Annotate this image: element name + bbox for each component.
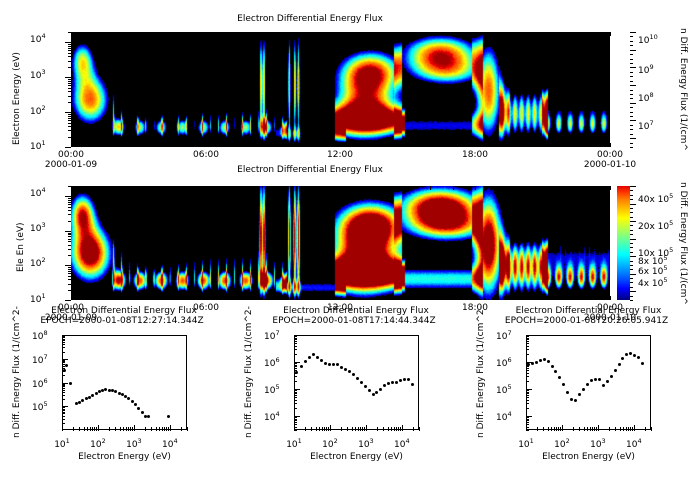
xtick-minor <box>145 427 146 431</box>
xtick-minor <box>632 427 633 431</box>
panel1-ytick <box>68 81 71 82</box>
panel2-xtick-top <box>385 186 386 190</box>
panel2-cbtick-0-mant: 40x 10 <box>638 195 669 205</box>
panel1-xtick <box>430 143 431 147</box>
panel2-xtick-top <box>296 186 297 190</box>
panel1-ytick <box>68 44 71 45</box>
ytick-mant: 10 <box>496 332 507 342</box>
panel1-xtick <box>453 143 454 147</box>
panel1-xtick-top <box>565 32 566 36</box>
ytick-exp: 5 <box>275 383 279 391</box>
panel2-xtick-top <box>565 186 566 190</box>
panel1-ytick <box>68 32 71 33</box>
xtick-exp: 3 <box>602 437 606 445</box>
panel2-ylabel: Ele En (eV) <box>16 222 26 272</box>
xtick-mant: 10 <box>518 440 529 450</box>
panel1-cbtick <box>630 143 633 144</box>
panel2-xtick <box>183 296 184 300</box>
ytick-minor <box>62 407 65 408</box>
xtick-minor <box>341 427 342 431</box>
data-point <box>352 373 355 376</box>
panel1-xtick-top <box>498 32 499 36</box>
xtick-minor <box>556 427 557 431</box>
panel1-xtick <box>475 143 476 147</box>
panel2-ytick <box>65 300 71 301</box>
panel1-xtick <box>610 143 611 147</box>
panel2-cbtick <box>630 234 633 235</box>
xtick-minor <box>159 427 160 431</box>
panel2-xtick-top <box>363 186 364 190</box>
panel1-xtick <box>408 143 409 147</box>
xtick-exp: 2 <box>102 437 106 445</box>
panel2-cbtick-0-exp: 5 <box>669 192 673 200</box>
xtick-minor <box>584 427 585 431</box>
xtick-minor <box>319 427 320 431</box>
panel1-xtick-top <box>93 32 94 36</box>
xtick-minor <box>543 427 544 431</box>
ytick-minor <box>62 385 65 386</box>
panel2-cbtick-5-exp: 5 <box>663 276 667 284</box>
ytick-exp: 6 <box>507 356 511 364</box>
panel2-cbtick <box>630 300 633 301</box>
panel1-cbtick-3: 107 <box>638 119 654 132</box>
panel1-cbtick <box>630 107 633 108</box>
xtick-mark <box>634 425 635 431</box>
ytick-mant: 10 <box>32 403 43 413</box>
ytick-minor <box>526 368 529 369</box>
panel1-cbtick-1-exp: 9 <box>649 63 653 71</box>
spectrum-panel-0: Electron Differential Energy FluxEPOCH=2… <box>0 300 232 492</box>
panel2-colorbar-label: n Diff. Energy Flux (1/(cm^ <box>678 182 688 305</box>
spectrum-xtick: 101 <box>54 437 70 450</box>
spectrum-xtick: 103 <box>358 437 374 450</box>
panel2-cbtick <box>630 221 636 222</box>
spectrum-ytick: 104 <box>496 410 512 423</box>
xtick-mark <box>134 425 135 431</box>
ytick-minor <box>294 354 297 355</box>
xtick-mark <box>98 425 99 431</box>
panel1-cbtick-2-mant: 10 <box>638 94 649 104</box>
ytick-minor <box>526 417 529 418</box>
panel1-cbtick <box>630 147 633 148</box>
ytick-minor <box>62 360 65 361</box>
panel2-xtick-top <box>183 186 184 190</box>
ytick-exp: 5 <box>507 383 511 391</box>
xtick-minor <box>326 427 327 431</box>
panel1-cbtick <box>630 72 633 73</box>
panel1-cbtick <box>630 54 633 55</box>
ytick-minor <box>294 408 297 409</box>
panel2-xtick-top <box>341 186 342 190</box>
panel2-ytick <box>68 210 71 211</box>
panel1-cbtick <box>630 98 633 99</box>
panel1-cbtick <box>630 94 633 95</box>
panel2-ytick <box>68 204 71 205</box>
xtick-minor <box>615 427 616 431</box>
panel2-ytick <box>68 279 71 280</box>
xtick-minor <box>358 427 359 431</box>
panel1-cbtick <box>630 125 633 126</box>
ytick-minor <box>62 410 65 411</box>
data-point <box>395 381 398 384</box>
panel2-xtick <box>71 296 72 300</box>
panel1-cbtick <box>630 81 633 82</box>
panel2-cbtick-4-exp: 5 <box>663 264 667 272</box>
panel1-xtick <box>93 143 94 147</box>
panel1-ytick-1: 103 <box>30 68 46 81</box>
panel2-ytick <box>68 276 71 277</box>
panel2-xtick-top <box>408 186 409 190</box>
panel2-xtick <box>341 296 342 300</box>
xtick-minor <box>94 427 95 431</box>
data-point <box>594 378 597 381</box>
panel2-cbtick <box>630 212 633 213</box>
ytick-minor <box>294 365 297 366</box>
panel2-ytick <box>68 214 71 215</box>
panel1-xtick-top <box>251 32 252 36</box>
panel2-xtick-top <box>475 186 476 190</box>
panel2-cbtick <box>630 256 636 257</box>
xtick-minor <box>73 427 74 431</box>
panel1-ytick-0: 104 <box>30 32 46 45</box>
panel1-ytick <box>68 88 71 89</box>
xtick-mant: 10 <box>394 440 405 450</box>
panel1-xtick-4: 00:00 <box>597 150 623 160</box>
ytick-minor <box>294 346 297 347</box>
panel1-cbtick <box>630 76 633 77</box>
ytick-exp: 7 <box>507 329 511 337</box>
panel2-xtick <box>116 296 117 300</box>
panel2-cbtick <box>630 199 633 200</box>
panel2-xtick-top <box>116 186 117 190</box>
spectrum-panel-1: Electron Differential Energy FluxEPOCH=2… <box>232 300 464 492</box>
panel2-cbtick <box>630 296 633 297</box>
panel1-ytick-3: 101 <box>30 139 46 152</box>
panel1-title: Electron Differential Energy Flux <box>0 14 620 24</box>
xtick-mark <box>366 425 367 431</box>
xtick-minor <box>355 427 356 431</box>
panel1-xtick-top <box>453 32 454 36</box>
panel2-xtick <box>363 296 364 300</box>
panel2-xtick-top <box>498 186 499 190</box>
panel1-xtick <box>498 143 499 147</box>
ytick-mant: 10 <box>496 386 507 396</box>
xtick-minor <box>79 427 80 431</box>
xtick-exp: 4 <box>406 437 410 445</box>
xtick-minor <box>388 427 389 431</box>
ytick-minor <box>526 346 529 347</box>
panel2-xtick <box>161 296 162 300</box>
spectrum-panel-2: Electron Differential Energy FluxEPOCH=2… <box>464 300 697 492</box>
panel2-xtick <box>430 296 431 300</box>
ytick-minor <box>526 339 529 340</box>
panel1-xtick-top <box>138 32 139 36</box>
xtick-minor <box>594 427 595 431</box>
data-point <box>360 381 363 384</box>
xtick-mant: 10 <box>126 440 137 450</box>
panel2-ytick <box>68 198 71 199</box>
panel1-ytick <box>68 137 71 138</box>
xtick-mant: 10 <box>626 440 637 450</box>
panel1-cbtick <box>630 134 633 135</box>
data-point <box>95 392 98 395</box>
panel2-xtick <box>408 296 409 300</box>
ytick-minor <box>62 352 65 353</box>
data-point <box>308 356 311 359</box>
panel2-xtick-top <box>520 186 521 190</box>
panel1-xtick-top <box>273 32 274 36</box>
panel1-ytick-1-mant: 10 <box>30 71 41 81</box>
panel2-xtick-top <box>161 186 162 190</box>
xtick-minor <box>587 427 588 431</box>
panel1-xtick <box>71 143 72 147</box>
panel1-xtick <box>138 143 139 147</box>
xtick-minor <box>305 427 306 431</box>
panel1-colorbar-label: n Diff. Energy Flux (1/(cm^ <box>678 28 688 151</box>
ytick-minor <box>526 390 529 391</box>
xtick-minor <box>364 427 365 431</box>
panel2-ytick <box>68 200 71 201</box>
panel2-title: Electron Differential Energy Flux <box>0 165 620 175</box>
panel2-ytick-1-mant: 10 <box>30 224 41 234</box>
panel1-cbtick <box>630 112 633 113</box>
xtick-exp: 1 <box>66 437 70 445</box>
xtick-exp: 2 <box>566 437 570 445</box>
panel1-ytick <box>68 46 71 47</box>
xtick-minor <box>548 427 549 431</box>
spectrum-ytick: 104 <box>264 410 280 423</box>
panel1-cbtick-3-exp: 7 <box>649 119 653 127</box>
spectrum-ytick: 107 <box>264 329 280 342</box>
ytick-minor <box>62 337 65 338</box>
panel2-cbtick <box>630 204 636 205</box>
panel1-xtick <box>341 143 342 147</box>
panel1-ylabel: Electron Energy (eV) <box>12 52 22 145</box>
ytick-minor <box>294 368 297 369</box>
ytick-mant: 10 <box>264 386 275 396</box>
panel1-xtick-3: 18:00 <box>462 150 488 160</box>
panel1-xtick-top <box>318 32 319 36</box>
panel1-cbtick <box>630 129 633 130</box>
panel2-ytick <box>65 231 71 232</box>
figure-root: Electron Differential Energy Flux Electr… <box>0 0 697 492</box>
data-point <box>633 354 636 357</box>
panel2-ytick-0: 104 <box>30 186 46 199</box>
spectrum-ytick: 105 <box>496 383 512 396</box>
panel2-cbtick-2-exp: 5 <box>669 246 673 254</box>
spectrum-ytick: 107 <box>32 353 48 366</box>
xtick-minor <box>92 427 93 431</box>
xtick-minor <box>90 427 91 431</box>
panel1-ytick <box>68 130 71 131</box>
panel2-xtick <box>93 296 94 300</box>
spec1-canvas <box>71 32 610 147</box>
xtick-minor <box>352 427 353 431</box>
xtick-minor <box>628 427 629 431</box>
xtick-exp: 1 <box>530 437 534 445</box>
data-point <box>610 375 613 378</box>
xtick-minor <box>130 427 131 431</box>
panel2-ytick <box>68 186 71 187</box>
panel2-cbtick-1-exp: 5 <box>669 219 673 227</box>
panel2-xtick-top <box>273 186 274 190</box>
panel1-xtick <box>273 143 274 147</box>
xtick-minor <box>132 427 133 431</box>
xtick-minor <box>109 427 110 431</box>
panel1-cbtick <box>630 138 636 139</box>
ytick-minor <box>294 403 297 404</box>
xtick-minor <box>324 427 325 431</box>
spectrum-ytick: 107 <box>496 329 512 342</box>
data-point <box>570 398 573 401</box>
panel1-ytick <box>68 126 71 127</box>
panel1-ytick <box>68 50 71 51</box>
ytick-minor <box>62 399 65 400</box>
spectrum-xlabel: Electron Energy (eV) <box>78 452 171 462</box>
spectrum-ytick: 105 <box>264 383 280 396</box>
panel1-ytick <box>68 53 71 54</box>
panel2-xtick-top <box>430 186 431 190</box>
ytick-minor <box>294 395 297 396</box>
panel1-xtick <box>116 143 117 147</box>
panel1-xtick-top <box>161 32 162 36</box>
panel1-xtick <box>565 143 566 147</box>
xtick-minor <box>115 427 116 431</box>
panel1-xtick-top <box>296 32 297 36</box>
xtick-minor <box>181 427 182 431</box>
xtick-mark <box>330 425 331 431</box>
data-point <box>300 365 303 368</box>
xtick-minor <box>128 427 129 431</box>
panel2-cbtick-5: 4x 105 <box>638 276 668 289</box>
xtick-minor <box>377 427 378 431</box>
panel1-xtick <box>251 143 252 147</box>
data-point <box>320 359 323 362</box>
xtick-mant: 10 <box>554 440 565 450</box>
panel1-cbtick-0: 1010 <box>638 33 658 46</box>
ytick-mant: 10 <box>32 380 43 390</box>
xtick-minor <box>362 427 363 431</box>
xtick-exp: 3 <box>370 437 374 445</box>
panel1-ytick <box>68 116 71 117</box>
ytick-minor <box>62 342 65 343</box>
panel2-ytick <box>68 241 71 242</box>
xtick-minor <box>558 427 559 431</box>
panel2-cbtick <box>630 261 633 262</box>
ytick-minor <box>62 409 65 410</box>
panel2-ytick <box>68 221 71 222</box>
xtick-minor <box>394 427 395 431</box>
panel1-cbtick <box>630 59 633 60</box>
panel2-cbtick <box>630 230 633 231</box>
xtick-minor <box>419 427 420 431</box>
panel1-xtick <box>206 143 207 147</box>
panel2-xtick <box>565 296 566 300</box>
ytick-minor <box>526 373 529 374</box>
ytick-mant: 10 <box>264 413 275 423</box>
spectrum-xtick: 102 <box>322 437 338 450</box>
panel2-cbtick-5-mant: 4x 10 <box>638 279 663 289</box>
panel2-cbtick <box>630 278 633 279</box>
ytick-exp: 5 <box>43 400 47 408</box>
ytick-minor <box>294 338 297 339</box>
panel1-ytick <box>68 48 71 49</box>
panel1-cbtick <box>630 50 636 51</box>
data-point <box>614 369 617 372</box>
panel2-ytick-2: 102 <box>30 256 46 269</box>
panel1-xtick <box>161 143 162 147</box>
panel1-cbtick-0-exp: 10 <box>649 33 657 41</box>
panel1-xtick-top <box>543 32 544 36</box>
data-point <box>356 377 359 380</box>
panel2-ytick <box>68 236 71 237</box>
xtick-mark <box>402 425 403 431</box>
panel1-cblabel-wrap: n Diff. Energy Flux (1/(cm^ <box>688 28 697 38</box>
xtick-minor <box>84 427 85 431</box>
xtick-mant: 10 <box>590 440 601 450</box>
panel2-xtick <box>228 296 229 300</box>
spectrum-epoch: EPOCH=2000-01-08T20:26:05.941Z <box>478 316 695 326</box>
ytick-minor <box>526 336 529 337</box>
panel2-ytick <box>68 284 71 285</box>
ytick-minor <box>526 422 529 423</box>
ytick-minor <box>62 392 65 393</box>
panel2-cbtick <box>630 274 636 275</box>
ytick-minor <box>294 349 297 350</box>
panel1-cbtick-2: 108 <box>638 91 654 104</box>
panel2-cbtick <box>630 247 633 248</box>
panel2-xtick-top <box>93 186 94 190</box>
xtick-minor <box>164 427 165 431</box>
panel2-cblabel-wrap: n Diff. Energy Flux (1/(cm^ <box>688 182 697 192</box>
xtick-minor <box>151 427 152 431</box>
ytick-minor <box>526 376 529 377</box>
spectrum-ylabel: n Diff. Energy Flux (1/(cm^2- <box>12 306 22 438</box>
xtick-mark <box>598 425 599 431</box>
ytick-minor <box>62 384 65 385</box>
panel2-ytick <box>65 265 71 266</box>
ytick-minor <box>526 395 529 396</box>
ytick-minor <box>294 392 297 393</box>
panel1-cbtick <box>630 63 633 64</box>
panel1-ytick <box>65 77 71 78</box>
xtick-minor <box>347 427 348 431</box>
ytick-minor <box>62 412 65 413</box>
panel1-xtick <box>183 143 184 147</box>
ytick-mant: 10 <box>32 356 43 366</box>
panel1-cbtick <box>630 120 636 121</box>
data-point <box>411 383 414 386</box>
panel1-xtick-top <box>341 32 342 36</box>
panel2-xtick <box>543 296 544 300</box>
xtick-minor <box>609 427 610 431</box>
ytick-mant: 10 <box>32 332 43 342</box>
xtick-minor <box>620 427 621 431</box>
xtick-minor <box>623 427 624 431</box>
spectrum-xlabel: Electron Energy (eV) <box>542 452 635 462</box>
ytick-minor <box>294 366 297 367</box>
xtick-minor <box>537 427 538 431</box>
ytick-minor <box>62 395 65 396</box>
data-point <box>403 378 406 381</box>
panel1-cbtick <box>630 41 633 42</box>
panel2-cbtick-3-exp: 5 <box>663 254 667 262</box>
panel2-xtick <box>475 296 476 300</box>
xtick-minor <box>162 427 163 431</box>
ytick-minor <box>526 392 529 393</box>
data-point <box>606 380 609 383</box>
ytick-exp: 6 <box>43 377 47 385</box>
